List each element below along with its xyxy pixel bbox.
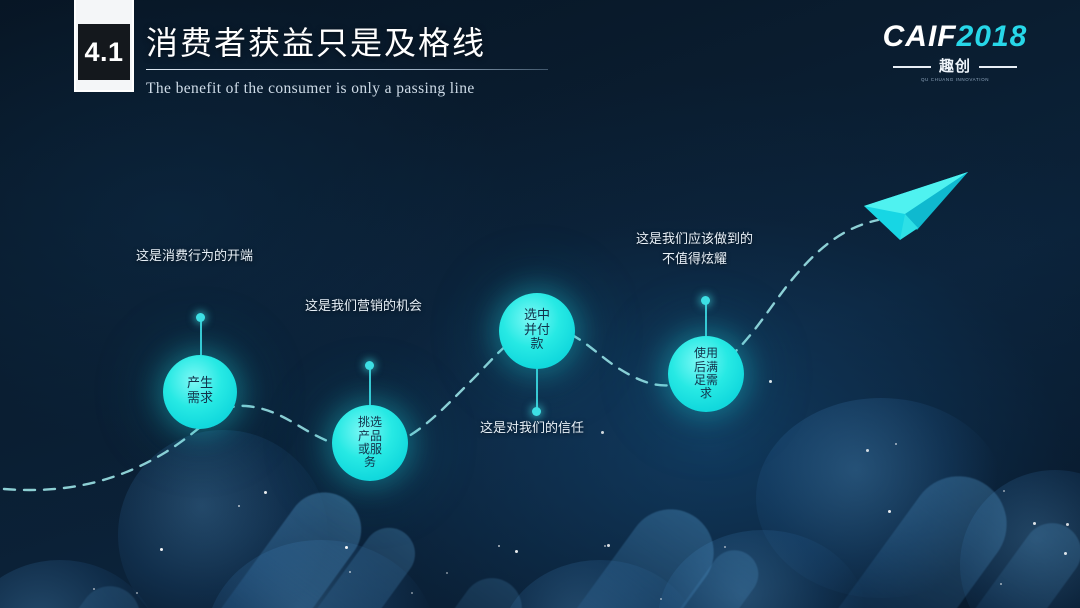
node-stem-dot [701,296,710,305]
flow-node-1[interactable]: 产生 需求 [163,355,237,429]
star-particle [888,510,891,513]
star-particle [1003,490,1005,492]
star-particle [411,592,413,594]
node-stem [536,367,538,411]
logo-divider-left [893,66,931,68]
logo-tagline: QU CHUANG INNOVATION [866,77,1044,82]
star-particle [1064,552,1067,555]
flow-node-2[interactable]: 挑选 产品 或服 务 [332,405,408,481]
star-particle [160,548,163,551]
light-beam [219,517,426,608]
flow-node-2-label: 挑选 产品 或服 务 [352,416,388,470]
title-divider [146,69,548,70]
light-beam [467,492,731,608]
star-particle [769,380,772,383]
star-particle [604,545,606,547]
flow-node-4[interactable]: 使用 后满 足需 求 [668,336,744,412]
node-stem-dot [196,313,205,322]
flow-node-3-label: 选中 并付 款 [518,309,556,353]
logo-sub-row: 趣创 [866,59,1044,74]
note-4-line-1: 这是我们应该做到的 [636,230,753,250]
star-particle [515,550,518,553]
node-stem-dot [532,407,541,416]
page-subtitle: The benefit of the consumer is only a pa… [146,80,475,98]
flow-node-3[interactable]: 选中 并付 款 [499,293,575,369]
star-particle [446,572,448,574]
logo-year-text: 2018 [957,20,1028,53]
star-particle [895,443,897,445]
glow-blob [756,398,1006,598]
note-3: 这是对我们的信任 [480,419,584,439]
star-particle [349,571,351,573]
star-particle [264,491,267,494]
star-particle [601,431,604,434]
star-particle [724,546,726,548]
logo-wordmark: CAIF2018 [866,22,1044,52]
note-4-line-2: 不值得炫耀 [636,250,753,270]
star-particle [498,545,500,547]
glow-blob [658,530,868,608]
node-stem-dot [365,361,374,370]
glow-blob [0,560,160,608]
note-1: 这是消费行为的开端 [136,247,253,267]
star-particle [1066,523,1069,526]
logo-brand-text: CAIF [883,20,957,53]
star-particle [136,592,138,594]
star-particle [1000,583,1002,585]
star-particle [607,544,610,547]
note-2: 这是我们营销的机会 [305,297,422,317]
star-particle [93,588,95,590]
section-number-badge: 4.1 [78,24,130,80]
light-beam [742,457,1025,608]
logo-divider-right [979,66,1017,68]
star-particle [1033,522,1036,525]
page-title: 消费者获益只是及格线 [146,18,486,64]
light-beam [122,478,376,608]
slide-canvas: 产生 需求 挑选 产品 或服 务 选中 并付 款 使用 后满 足需 求 这是消费… [0,0,1080,608]
glow-blob [206,540,436,608]
light-beam [869,512,1080,608]
logo-sub-text: 趣创 [939,59,971,74]
light-beam [0,574,152,608]
star-particle [238,505,240,507]
section-number-text: 4.1 [84,37,123,68]
glow-blob [960,470,1080,608]
flow-node-1-label: 产生 需求 [181,377,219,406]
note-4: 这是我们应该做到的 不值得炫耀 [636,230,753,269]
star-particle [345,546,348,549]
star-particle [866,449,869,452]
paper-plane-icon [864,172,968,240]
event-logo: CAIF2018 趣创 QU CHUANG INNOVATION [866,22,1044,82]
glow-blob [500,560,700,608]
star-particle [660,598,662,600]
flow-node-4-label: 使用 后满 足需 求 [688,347,724,401]
light-beam [338,566,533,608]
glow-blob [118,430,328,608]
light-beam [576,541,768,608]
